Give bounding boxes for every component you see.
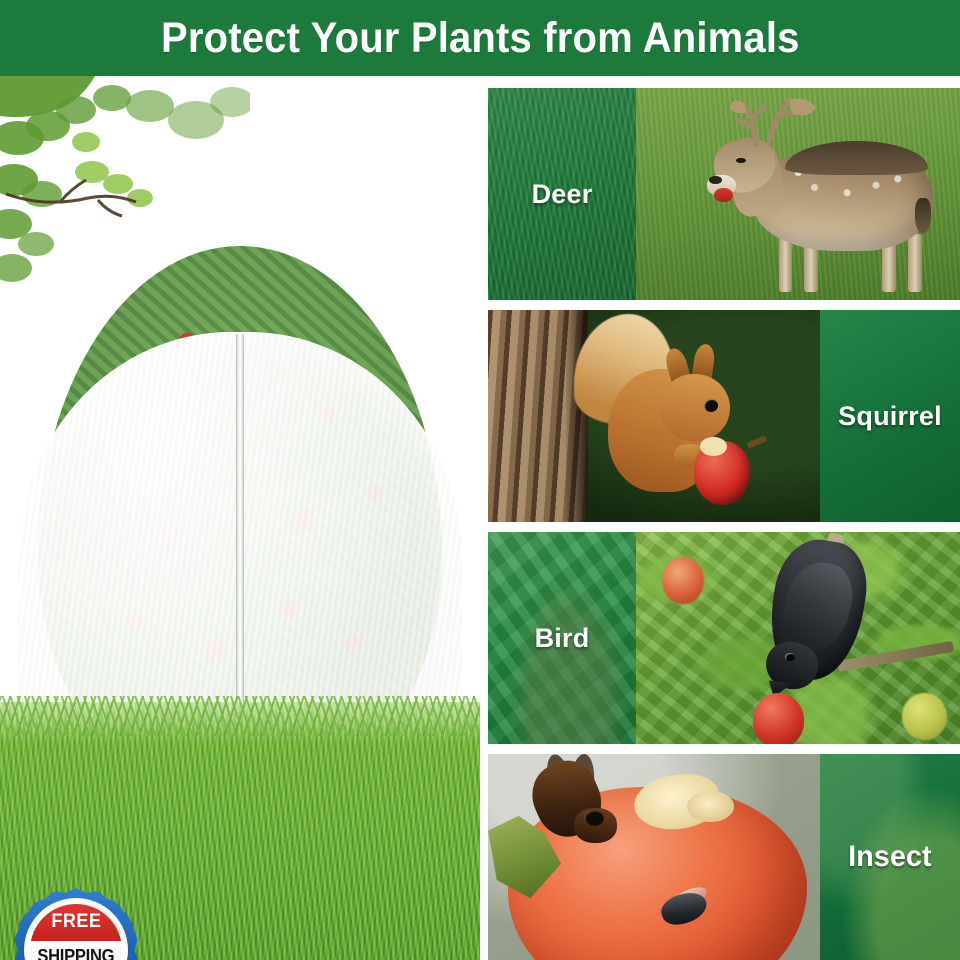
squirrel-photo [488, 310, 820, 522]
deer-tail [915, 198, 931, 234]
squirrel-label: Squirrel [838, 401, 942, 432]
deer-antlers-icon [707, 92, 843, 147]
animal-panel-deer: Deer [488, 88, 960, 300]
grass-blades [0, 696, 480, 736]
deer-photo [636, 88, 960, 300]
animal-panel-bird: Bird [488, 532, 960, 744]
bird-label-block: Bird [488, 532, 636, 744]
apple-being-pecked [753, 693, 805, 744]
bird-photo [636, 532, 960, 744]
deer-leg [908, 234, 922, 291]
free-shipping-badge: FREE SHIPPING ★★★★ [14, 888, 138, 960]
page-title: Protect Your Plants from Animals [161, 14, 800, 63]
squirrel-label-block: Squirrel [820, 310, 960, 522]
animal-panel-column: Deer [488, 88, 960, 960]
badge-middle-band: SHIPPING [30, 941, 122, 960]
animal-panel-squirrel: Squirrel [488, 310, 960, 522]
badge-free-text: FREE [51, 911, 101, 933]
background-apple [902, 693, 947, 740]
apple-stem [746, 436, 767, 449]
bird-eye [785, 653, 795, 661]
insect-photo [488, 754, 820, 960]
insect-label-block: Insect [820, 754, 960, 960]
squirrel-eye [704, 399, 718, 412]
deer-eaten-berry [714, 188, 733, 203]
badge-face: FREE SHIPPING ★★★★ [30, 904, 122, 960]
tree-bark [488, 310, 588, 522]
deer-label: Deer [532, 179, 593, 210]
apple-bite-hole [687, 791, 733, 822]
squirrel-head [661, 374, 731, 442]
product-marketing-image: Protect Your Plants from Animals [0, 0, 960, 960]
deer-label-block: Deer [488, 88, 636, 300]
animal-panel-insect: Insect [488, 754, 960, 960]
badge-top-band: FREE [30, 904, 122, 941]
background-apple [662, 557, 704, 604]
header-banner: Protect Your Plants from Animals [0, 0, 960, 76]
badge-shipping-text: SHIPPING [38, 946, 115, 960]
product-hero-panel: FREE SHIPPING ★★★★ [0, 76, 480, 960]
bird-label: Bird [535, 623, 590, 654]
insect-label: Insect [848, 840, 932, 874]
wasp-eye [584, 810, 604, 826]
